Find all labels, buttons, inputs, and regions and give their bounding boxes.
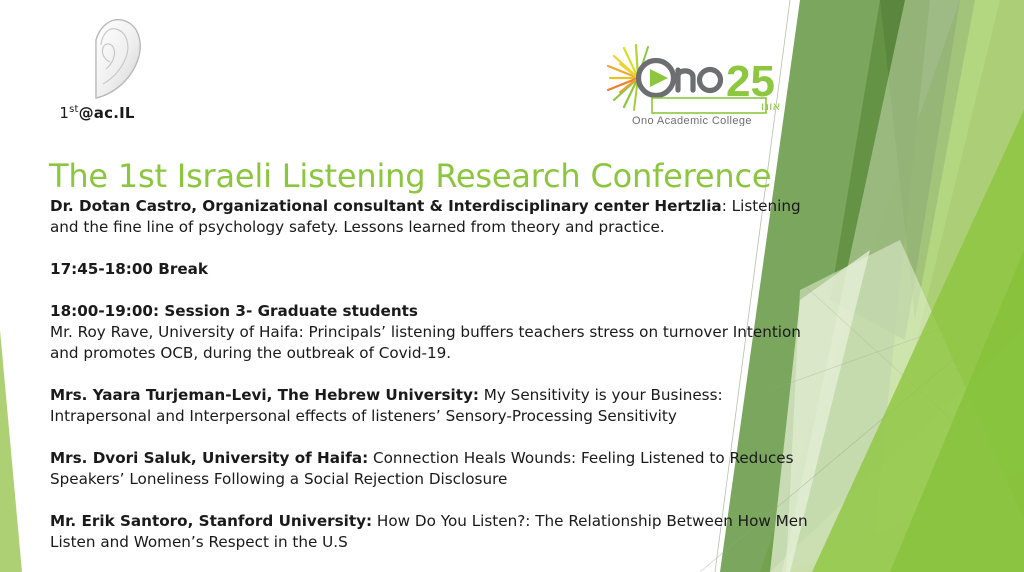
agenda-speaker-turjeman-levi: Mrs. Yaara Turjeman-Levi, The Hebrew Uni… [50, 386, 479, 404]
agenda-speaker-castro: Dr. Dotan Castro, Organizational consult… [50, 197, 722, 215]
ono-hebrew-name: הקריה האקדמית אונו [761, 99, 780, 113]
deco-dark-wedge-b [830, 0, 960, 340]
play-triangle-icon [650, 69, 668, 87]
agenda-item-session3-heading: 18:00-19:00: Session 3- Graduate student… [50, 301, 826, 322]
deco-deep-triangle [880, 0, 975, 320]
ono-english-name: Ono Academic College [632, 115, 752, 126]
deco-right-bright-2 [860, 0, 1024, 572]
logo-caption-domain: @ac.IL [79, 104, 135, 122]
logo-caption: 1st@ac.IL [42, 104, 152, 122]
agenda-item-saluk: Mrs. Dvori Saluk, University of Haifa: C… [50, 448, 826, 490]
agenda-item-rave: Mr. Roy Rave, University of Haifa: Princ… [50, 322, 826, 364]
agenda-item-santoro: Mr. Erik Santoro, Stanford University: H… [50, 511, 826, 553]
sunburst-icon [608, 45, 648, 110]
deco-left-wedge [0, 330, 22, 572]
presentation-slide: 1st@ac.IL 25 הקריה האקדמית אונו [0, 0, 1024, 572]
deco-hairline-4 [805, 286, 1024, 486]
agenda-item-castro: Dr. Dotan Castro, Organizational consult… [50, 196, 826, 238]
logo-caption-ordinal: 1 [59, 104, 69, 122]
ear-shape-right [96, 20, 140, 98]
deco-front-bright-2 [890, 250, 1024, 572]
logo-caption-superscript: st [69, 104, 79, 115]
agenda-session3-heading: 18:00-19:00: Session 3- Graduate student… [50, 302, 418, 320]
ono-academic-college-logo: 25 הקריה האקדמית אונו Ono Academic Colle… [604, 44, 780, 126]
agenda-abstract-rave: Mr. Roy Rave, University of Haifa: Princ… [50, 323, 801, 362]
agenda-speaker-saluk: Mrs. Dvori Saluk, University of Haifa: [50, 449, 368, 467]
agenda-item-break: 17:45-18:00 Break [50, 259, 826, 280]
agenda-list: Dr. Dotan Castro, Organizational consult… [50, 196, 826, 572]
ono-letter-o2 [700, 70, 721, 91]
agenda-speaker-santoro: Mr. Erik Santoro, Stanford University: [50, 512, 372, 530]
agenda-break-label: 17:45-18:00 Break [50, 260, 208, 278]
agenda-item-turjeman-levi: Mrs. Yaara Turjeman-Levi, The Hebrew Uni… [50, 385, 826, 427]
deco-front-bright [812, 110, 1024, 572]
ears-heart-logo [42, 14, 150, 104]
ono-letter-n [678, 70, 693, 90]
page-title: The 1st Israeli Listening Research Confe… [49, 157, 771, 195]
